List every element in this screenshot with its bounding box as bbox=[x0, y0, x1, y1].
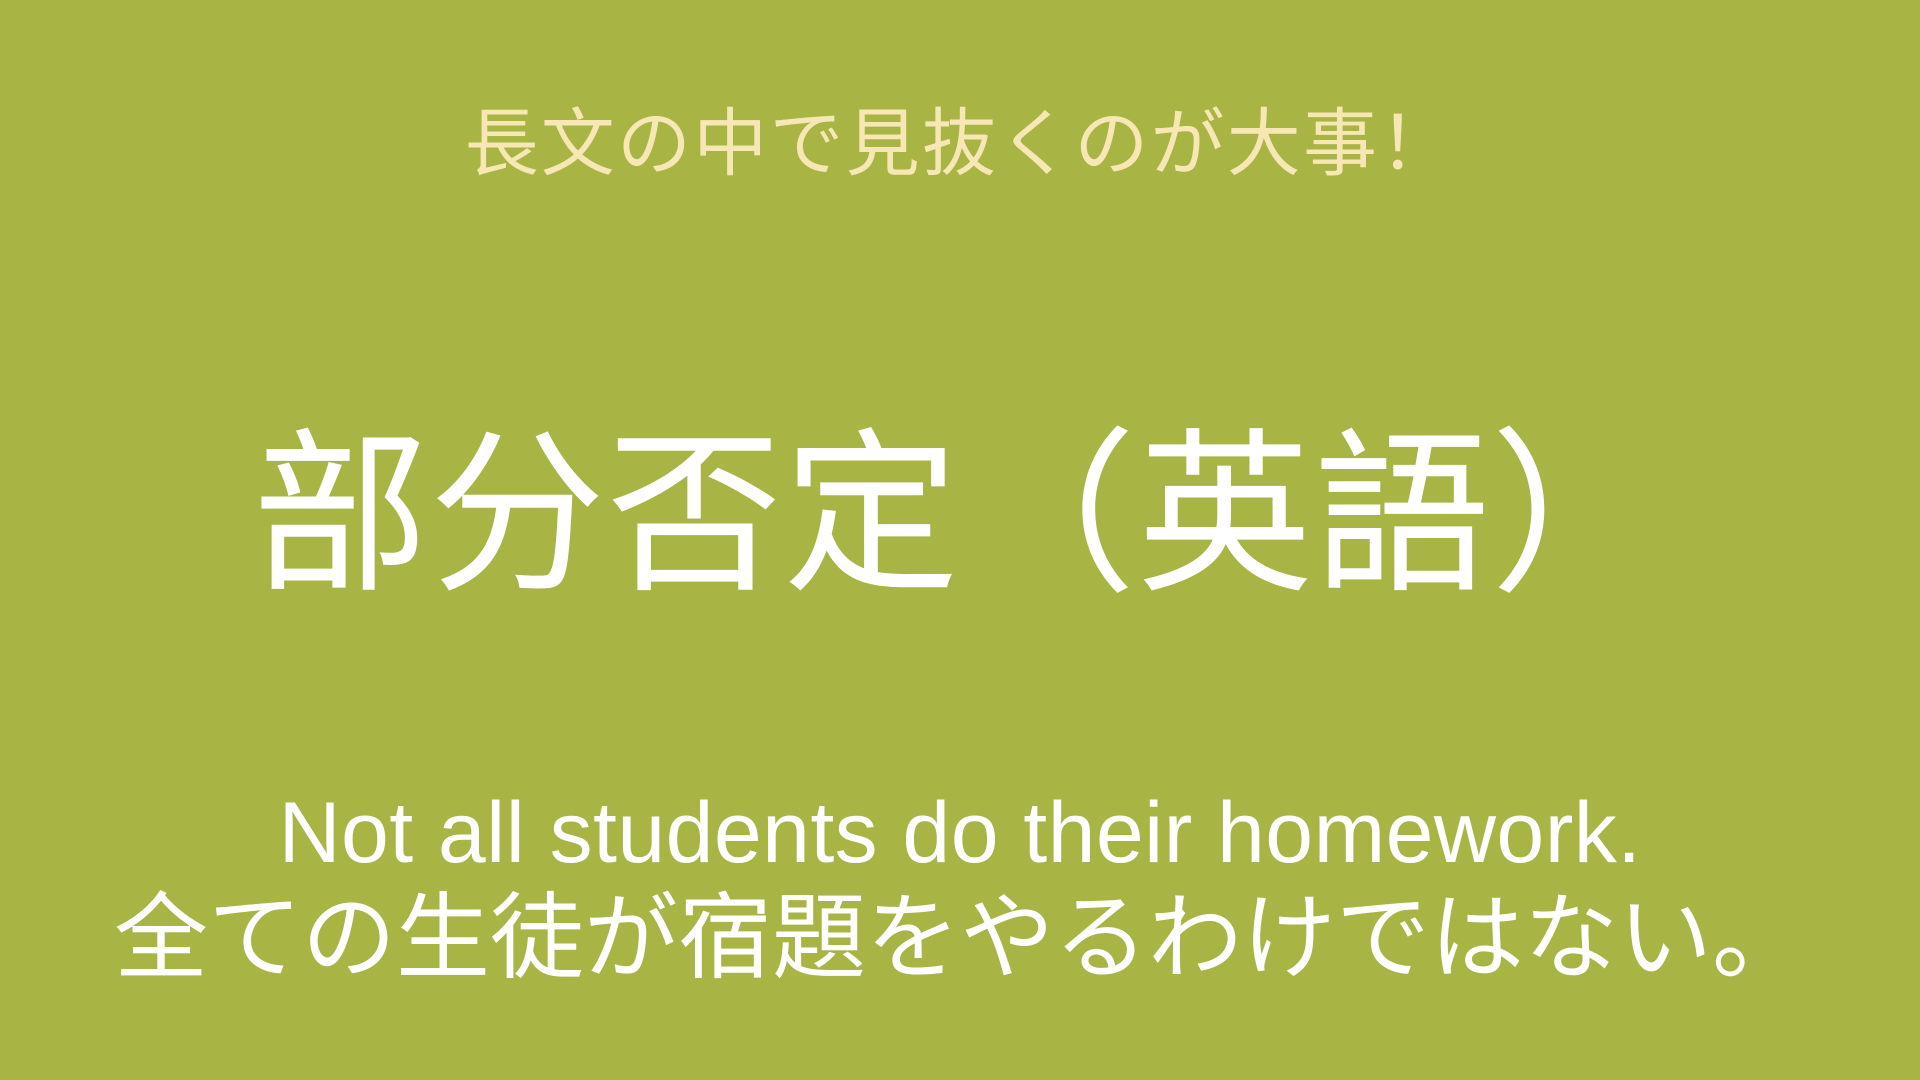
slide-canvas: 長文の中で見抜くのが大事！ 部分否定（英語） Not all students … bbox=[0, 0, 1920, 1080]
page-title: 部分否定（英語） bbox=[0, 430, 1920, 606]
tagline-text: 長文の中で見抜くのが大事！ bbox=[0, 108, 1920, 182]
example-block: Not all students do their homework. 全ての生… bbox=[0, 790, 1920, 989]
example-english-sentence: Not all students do their homework. bbox=[0, 790, 1920, 876]
example-japanese-translation: 全ての生徒が宿題をやるわけではない。 bbox=[0, 890, 1920, 989]
